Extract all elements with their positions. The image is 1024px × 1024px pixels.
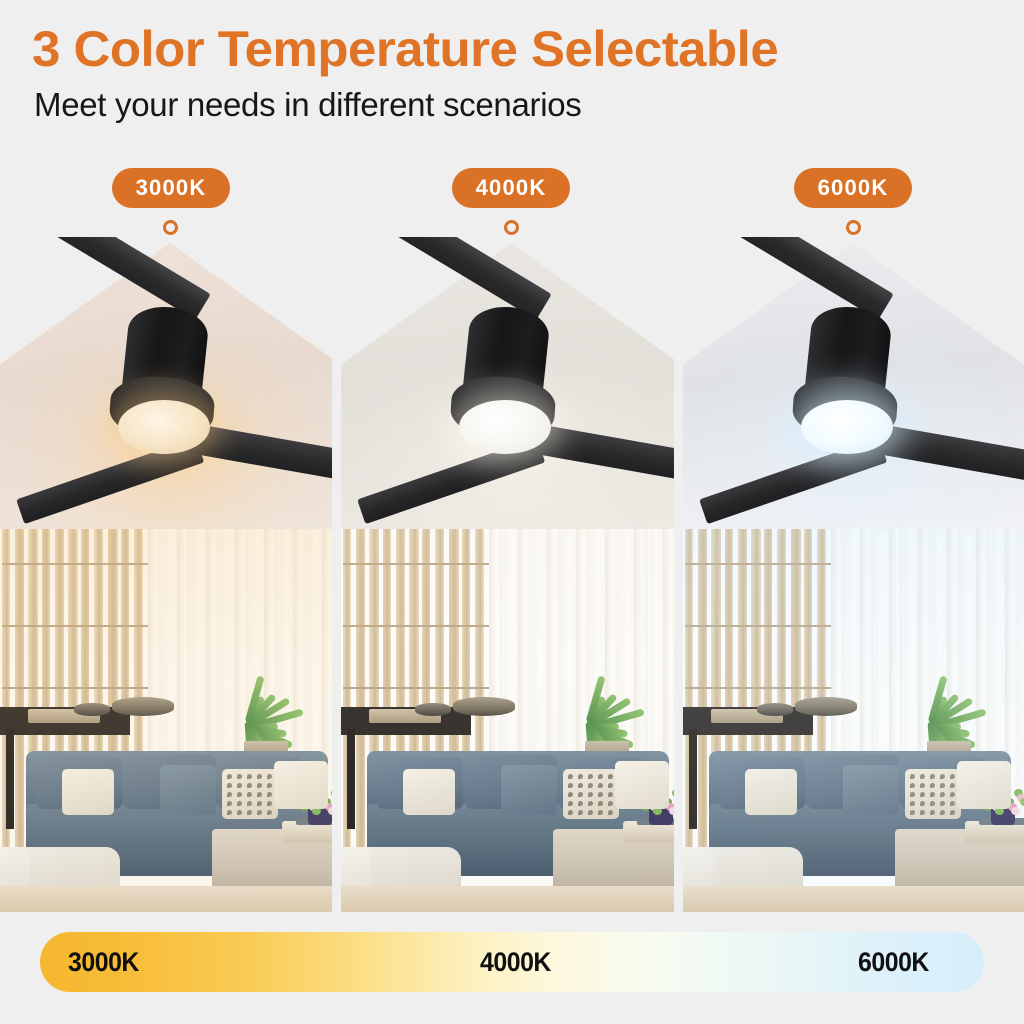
pillow-pattern-motif — [920, 810, 925, 815]
slat-peg — [777, 687, 791, 689]
color-temperature-gradient-bar: 3000K 4000K 6000K — [40, 932, 984, 992]
gradient-label-6000k: 6000K — [858, 932, 929, 992]
slat-peg — [764, 625, 777, 627]
pillow-pattern-motif — [588, 792, 593, 797]
panel-divider — [674, 237, 683, 912]
pillow-pattern-motif — [930, 801, 935, 806]
pillow-pattern-motif — [247, 783, 252, 788]
pillow-pattern-motif — [588, 801, 593, 806]
slat-peg — [94, 687, 108, 689]
slat-peg — [725, 625, 738, 627]
pillow-pattern-motif — [578, 774, 583, 779]
slat-peg — [817, 563, 831, 565]
pillow-pattern-motif — [588, 774, 593, 779]
pillow-pattern-motif — [940, 810, 945, 815]
pillow-pattern-motif — [950, 810, 955, 815]
slat-peg — [55, 625, 69, 627]
slat-peg — [2, 625, 15, 627]
circle-marker-icon-1 — [163, 220, 178, 235]
curtain-fold — [1020, 529, 1024, 829]
pillow-pattern-motif — [237, 801, 242, 806]
slat-peg — [422, 563, 435, 565]
gradient-label-4000k: 4000K — [480, 932, 551, 992]
slat-peg — [343, 563, 356, 565]
pillow-pattern-motif — [588, 810, 593, 815]
slat-peg — [55, 687, 69, 689]
pillow-pattern-motif — [257, 792, 262, 797]
flower-petal — [1020, 798, 1024, 806]
gradient-label-3000k: 3000K — [68, 932, 139, 992]
decor-bowl — [112, 697, 174, 716]
decor-bowl — [795, 697, 857, 716]
slat-peg — [764, 563, 777, 565]
slat-peg — [698, 625, 712, 627]
decor-bowl — [74, 703, 110, 716]
pillow-pattern-motif — [578, 801, 583, 806]
panel-6000k — [683, 237, 1024, 912]
slat-peg — [817, 625, 831, 627]
fan-blade — [870, 423, 1024, 483]
pillow-pattern-motif — [247, 792, 252, 797]
pillow-pattern-motif — [608, 774, 613, 779]
pillow-pattern-motif — [267, 783, 272, 788]
pillow-pattern-motif — [910, 783, 915, 788]
fan-blade — [720, 237, 894, 320]
ceiling-fan-4000k — [341, 237, 682, 537]
pillow-pattern-motif — [237, 783, 242, 788]
badge-6000k-label: 6000K — [818, 175, 889, 201]
slat-peg — [475, 625, 489, 627]
pillow-pattern-motif — [247, 801, 252, 806]
room-scene-3000k — [0, 529, 341, 912]
slat-peg — [698, 563, 712, 565]
wood-slat — [356, 529, 365, 859]
pillow-pattern-motif — [910, 792, 915, 797]
slat-peg — [422, 687, 435, 689]
pillow-pattern-motif — [578, 810, 583, 815]
pillow-pattern-motif — [247, 810, 252, 815]
panel-3000k — [0, 237, 341, 912]
slat-peg — [356, 563, 370, 565]
pillow-pattern-motif — [950, 783, 955, 788]
pillow-pattern-motif — [910, 810, 915, 815]
slat-peg — [685, 625, 698, 627]
page-title: 3 Color Temperature Selectable — [32, 22, 778, 76]
slat-peg — [42, 563, 55, 565]
wood-floor — [0, 886, 341, 912]
slat-peg — [475, 687, 489, 689]
wood-slat — [15, 529, 24, 859]
pillow-pattern-motif — [237, 792, 242, 797]
slat-peg — [383, 687, 396, 689]
pillow-pattern-motif — [940, 801, 945, 806]
slat-peg — [42, 625, 55, 627]
slat-peg — [435, 563, 449, 565]
pillow-pattern-motif — [568, 810, 573, 815]
slat-peg — [396, 625, 410, 627]
pillow-pattern-motif — [227, 801, 232, 806]
pillow-cream — [62, 769, 114, 815]
pillow-cream — [745, 769, 797, 815]
pillow-pattern-motif — [598, 792, 603, 797]
decor-bowl — [453, 697, 515, 716]
slat-peg — [435, 625, 449, 627]
pillow-pattern-motif — [267, 774, 272, 779]
badge-6000k[interactable]: 6000K — [794, 168, 912, 208]
slat-peg — [698, 687, 712, 689]
pillow-pattern-motif — [257, 810, 262, 815]
slat-peg — [462, 687, 475, 689]
fan-blade — [37, 237, 211, 320]
pillow-blue — [501, 765, 557, 815]
slat-peg — [738, 625, 752, 627]
fan-light-lens-3000k — [118, 400, 210, 454]
pillow-cream — [403, 769, 455, 815]
pillow-pattern-motif — [568, 801, 573, 806]
slat-peg — [81, 687, 94, 689]
pillow-pattern-motif — [257, 801, 262, 806]
pillow-pattern-motif — [237, 810, 242, 815]
pillow-pattern-motif — [940, 792, 945, 797]
pillow-pattern-motif — [608, 801, 613, 806]
slat-peg — [777, 625, 791, 627]
slat-peg — [383, 625, 396, 627]
pillow-patterned — [563, 769, 619, 819]
slat-peg — [356, 687, 370, 689]
slat-peg — [55, 563, 69, 565]
pillow-pattern-motif — [930, 792, 935, 797]
pillow-blue — [160, 765, 216, 815]
fan-light-lens-4000k — [459, 400, 551, 454]
circle-marker-icon-3 — [846, 220, 861, 235]
fan-light-lens-6000k — [801, 400, 893, 454]
pillow-pattern-motif — [910, 801, 915, 806]
slat-peg — [475, 563, 489, 565]
pillow-pattern-motif — [598, 774, 603, 779]
slat-peg — [738, 563, 752, 565]
pillow-ivory — [957, 761, 1011, 809]
pillow-pattern-motif — [940, 774, 945, 779]
pillow-blue — [843, 765, 899, 815]
slat-peg — [725, 687, 738, 689]
page-subtitle: Meet your needs in different scenarios — [34, 85, 581, 125]
panel-divider — [332, 237, 341, 912]
slat-peg — [134, 687, 148, 689]
infographic-page: 3 Color Temperature Selectable Meet your… — [0, 0, 1024, 1024]
decor-bowl — [415, 703, 451, 716]
wood-floor — [683, 886, 1024, 912]
slat-peg — [396, 687, 410, 689]
pillow-pattern-motif — [237, 774, 242, 779]
slat-peg — [94, 625, 108, 627]
pillow-pattern-motif — [920, 801, 925, 806]
wood-slat — [698, 529, 707, 859]
slat-peg — [81, 563, 94, 565]
pillow-pattern-motif — [568, 783, 573, 788]
pillow-pattern-motif — [267, 810, 272, 815]
fan-blade — [528, 423, 682, 483]
pillow-pattern-motif — [930, 810, 935, 815]
room-scene-4000k — [341, 529, 682, 912]
wood-floor — [341, 886, 682, 912]
pillow-pattern-motif — [267, 792, 272, 797]
slat-peg — [2, 687, 15, 689]
slat-peg — [134, 625, 148, 627]
pillow-pattern-motif — [940, 783, 945, 788]
pillow-pattern-motif — [950, 774, 955, 779]
pillow-pattern-motif — [588, 783, 593, 788]
pillow-pattern-motif — [227, 792, 232, 797]
badge-3000k[interactable]: 3000K — [112, 168, 230, 208]
badge-4000k-label: 4000K — [476, 175, 547, 201]
pillow-pattern-motif — [598, 810, 603, 815]
slat-peg — [134, 563, 148, 565]
badge-4000k[interactable]: 4000K — [452, 168, 570, 208]
slat-peg — [462, 563, 475, 565]
slat-peg — [343, 625, 356, 627]
pillow-pattern-motif — [578, 783, 583, 788]
slat-peg — [15, 687, 29, 689]
pillow-patterned — [222, 769, 278, 819]
slat-peg — [764, 687, 777, 689]
ceiling-fan-6000k — [683, 237, 1024, 537]
slat-peg — [15, 625, 29, 627]
pillow-pattern-motif — [257, 783, 262, 788]
decor-bowl — [757, 703, 793, 716]
pillow-pattern-motif — [608, 792, 613, 797]
slat-peg — [804, 687, 817, 689]
panel-4000k — [341, 237, 682, 912]
circle-marker-icon-2 — [504, 220, 519, 235]
slat-peg — [121, 563, 134, 565]
pillow-pattern-motif — [950, 801, 955, 806]
pillow-pattern-motif — [910, 774, 915, 779]
pillow-pattern-motif — [227, 810, 232, 815]
pillow-pattern-motif — [920, 792, 925, 797]
pillow-ivory — [274, 761, 328, 809]
pillow-pattern-motif — [257, 774, 262, 779]
slat-peg — [685, 687, 698, 689]
fan-blade — [187, 423, 341, 483]
fan-blade — [378, 237, 552, 320]
badge-3000k-label: 3000K — [136, 175, 207, 201]
slat-peg — [462, 625, 475, 627]
slat-peg — [817, 687, 831, 689]
slat-peg — [42, 687, 55, 689]
pillow-patterned — [905, 769, 961, 819]
pillow-pattern-motif — [227, 783, 232, 788]
pillow-pattern-motif — [920, 783, 925, 788]
slat-peg — [738, 687, 752, 689]
slat-peg — [81, 625, 94, 627]
pillow-pattern-motif — [950, 792, 955, 797]
slat-peg — [685, 563, 698, 565]
slat-peg — [94, 563, 108, 565]
slat-peg — [383, 563, 396, 565]
room-scene-6000k — [683, 529, 1024, 912]
pillow-pattern-motif — [930, 783, 935, 788]
pillow-pattern-motif — [568, 792, 573, 797]
pillow-pattern-motif — [608, 783, 613, 788]
pillow-pattern-motif — [568, 774, 573, 779]
pillow-ivory — [615, 761, 669, 809]
slat-peg — [435, 687, 449, 689]
slat-peg — [804, 563, 817, 565]
panel-group — [0, 237, 1024, 912]
pillow-pattern-motif — [920, 774, 925, 779]
slat-peg — [15, 563, 29, 565]
pillow-pattern-motif — [598, 801, 603, 806]
slat-peg — [121, 687, 134, 689]
slat-peg — [725, 563, 738, 565]
header: 3 Color Temperature Selectable Meet your… — [0, 0, 1024, 150]
pillow-pattern-motif — [227, 774, 232, 779]
slat-peg — [356, 625, 370, 627]
pillow-pattern-motif — [608, 810, 613, 815]
slat-peg — [396, 563, 410, 565]
pillow-pattern-motif — [598, 783, 603, 788]
slat-peg — [343, 687, 356, 689]
slat-peg — [121, 625, 134, 627]
slat-peg — [777, 563, 791, 565]
slat-peg — [422, 625, 435, 627]
slat-peg — [2, 563, 15, 565]
pillow-pattern-motif — [267, 801, 272, 806]
slat-peg — [804, 625, 817, 627]
ceiling-fan-3000k — [0, 237, 341, 537]
pillow-pattern-motif — [247, 774, 252, 779]
pillow-pattern-motif — [578, 792, 583, 797]
pillow-pattern-motif — [930, 774, 935, 779]
